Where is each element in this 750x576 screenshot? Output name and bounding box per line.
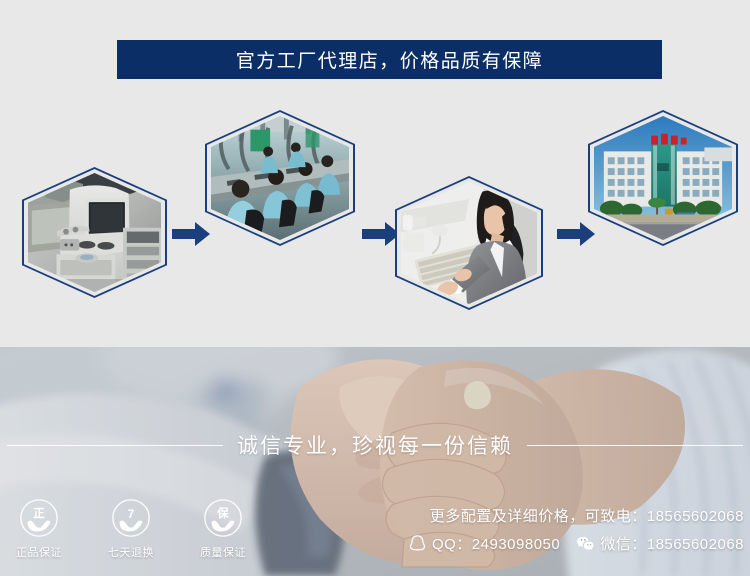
svg-text:保: 保: [216, 506, 229, 520]
qq-penguin-icon: [408, 534, 427, 553]
tagline-text: 诚信专业，珍视每一份信赖: [237, 430, 513, 460]
wechat-icon: [576, 534, 595, 553]
step-factory[interactable]: [205, 110, 355, 246]
badge-seven-day-return-label: 七天退换: [108, 544, 154, 560]
header-banner: 官方工厂代理店，价格品质有保障: [117, 40, 662, 79]
header-banner-title: 官方工厂代理店，价格品质有保障: [236, 46, 544, 73]
hands-holding-seal-icon: 正: [18, 497, 60, 539]
hex-border: [395, 176, 543, 310]
tagline-rule-right: [527, 445, 743, 446]
qq-label: QQ：2493098050: [432, 533, 560, 554]
hex-border: [205, 110, 355, 246]
badge-quality-label: 质量保证: [200, 544, 246, 560]
hex-border: [22, 167, 167, 298]
hands-holding-seven-icon: 7: [110, 497, 152, 539]
badge-authentic[interactable]: 正 正品保证: [6, 497, 72, 560]
tagline-rule-left: [7, 445, 223, 446]
contact-phone-line: 更多配置及详细价格，可致电：18565602068: [408, 505, 744, 526]
trust-section: 诚信专业，珍视每一份信赖 正 正品保证 7: [0, 347, 750, 576]
step-service[interactable]: [395, 176, 543, 310]
badge-authentic-label: 正品保证: [16, 544, 62, 560]
process-flow-section: 官方工厂代理店，价格品质有保障: [0, 0, 750, 347]
svg-text:正: 正: [33, 507, 45, 520]
hands-holding-quality-icon: 保: [202, 497, 244, 539]
badge-quality[interactable]: 保 质量保证: [190, 497, 256, 560]
svg-text:7: 7: [128, 507, 135, 521]
contact-block: 更多配置及详细价格，可致电：18565602068 QQ：2493098050: [408, 505, 744, 554]
step-building[interactable]: [588, 110, 738, 246]
hex-border: [588, 110, 738, 246]
promo-banner-page: 官方工厂代理店，价格品质有保障: [0, 0, 750, 576]
badge-seven-day-return[interactable]: 7 七天退换: [98, 497, 164, 560]
tagline-row: 诚信专业，珍视每一份信赖: [0, 430, 750, 460]
wechat-label: 微信：18565602068: [600, 533, 744, 554]
contact-im-line: QQ：2493098050 微信：18565602068: [408, 533, 744, 554]
step-equipment[interactable]: [22, 167, 167, 298]
guarantee-badges: 正 正品保证 7 七天退换: [6, 497, 256, 560]
